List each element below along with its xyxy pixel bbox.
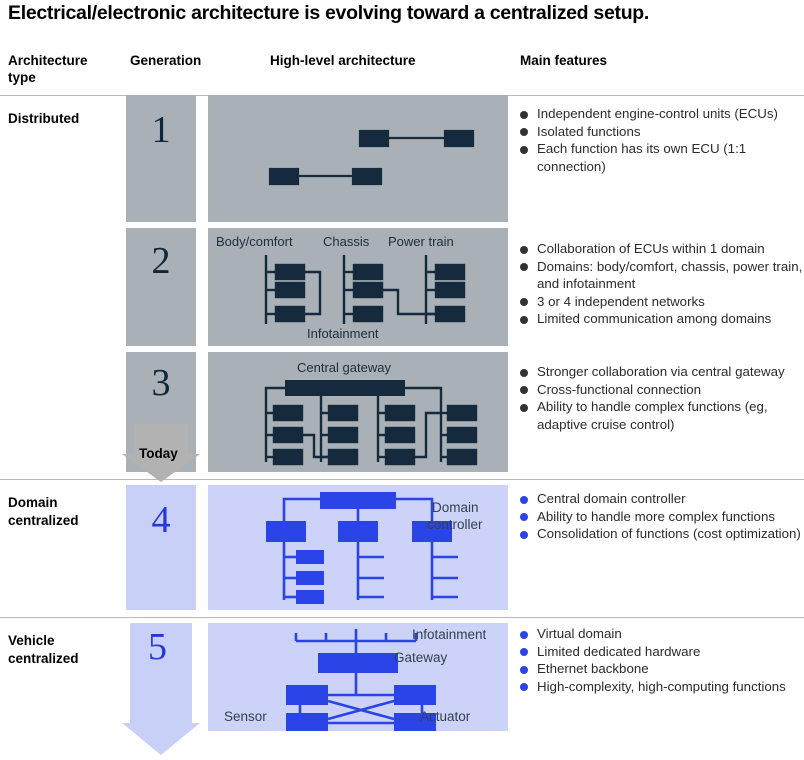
feature-item: Independent engine-control units (ECUs) — [520, 105, 804, 123]
feature-item: Consolidation of functions (cost optimiz… — [520, 525, 804, 543]
generation-number-2: 2 — [152, 242, 171, 280]
diagram-label-gateway: Gateway — [394, 650, 447, 665]
feature-item: Collaboration of ECUs within 1 domain — [520, 240, 804, 258]
features-list-gen-5: Virtual domain Limited dedicated hardwar… — [520, 625, 804, 695]
feature-item: Limited dedicated hardware — [520, 643, 804, 661]
diagram-label-actuator: Actuator — [420, 709, 470, 724]
architecture-diagram-gen-1 — [208, 95, 508, 222]
diagram-label-infotainment: Infotainment — [307, 326, 379, 341]
column-header-generation: Generation — [130, 52, 230, 69]
features-list-gen-4: Central domain controller Ability to han… — [520, 490, 804, 543]
diagram-svg-gen-1 — [208, 95, 508, 222]
diagram-label-sensor: Sensor — [224, 709, 267, 724]
row-type-label-domain-centralized: Domain centralized — [8, 494, 120, 529]
generation-cell-4: 4 — [126, 485, 196, 610]
generation-number-1: 1 — [152, 111, 171, 149]
page-title: Electrical/electronic architecture is ev… — [8, 2, 798, 25]
feature-item: Central domain controller — [520, 490, 804, 508]
feature-item: Virtual domain — [520, 625, 804, 643]
feature-item: Domains: body/comfort, chassis, power tr… — [520, 258, 804, 293]
diagram-label-domain: Domain — [432, 500, 479, 515]
row-type-label-distributed: Distributed — [8, 110, 120, 128]
generation-number-4: 4 — [152, 501, 171, 539]
generation-number-5: 5 — [148, 628, 167, 666]
divider-row5 — [0, 617, 804, 618]
diagram-label-power-train: Power train — [388, 234, 454, 249]
diagram-label-body-comfort: Body/comfort — [216, 234, 293, 249]
generation-cell-2: 2 — [126, 228, 196, 346]
generation-number-3: 3 — [152, 364, 171, 402]
today-arrow-label: Today — [139, 446, 178, 461]
features-list-gen-1: Independent engine-control units (ECUs) … — [520, 105, 804, 175]
column-header-high-level-architecture: High-level architecture — [270, 52, 510, 69]
feature-item: High-complexity, high-computing function… — [520, 678, 804, 696]
row-type-label-vehicle-centralized: Vehicle centralized — [8, 632, 120, 667]
feature-item: Ethernet backbone — [520, 660, 804, 678]
feature-item: Limited communication among domains — [520, 310, 804, 328]
feature-item: Ability to handle complex functions (eg,… — [520, 398, 804, 433]
diagram-label-infotainment: Infotainment — [412, 627, 486, 642]
features-list-gen-3: Stronger collaboration via central gatew… — [520, 363, 804, 433]
divider-row4 — [0, 479, 804, 480]
generation-cell-1: 1 — [126, 95, 196, 222]
diagram-label-chassis: Chassis — [323, 234, 369, 249]
feature-item: Cross-functional connection — [520, 381, 804, 399]
column-header-main-features: Main features — [520, 52, 790, 69]
feature-item: Ability to handle more complex functions — [520, 508, 804, 526]
features-list-gen-2: Collaboration of ECUs within 1 domain Do… — [520, 240, 804, 328]
diagram-label-central-gateway: Central gateway — [297, 360, 391, 375]
column-header-architecture-type: Architecture type — [8, 52, 118, 86]
feature-item: Each function has its own ECU (1:1 conne… — [520, 140, 804, 175]
diagram-label-controller: controller — [427, 517, 483, 532]
feature-item: 3 or 4 independent networks — [520, 293, 804, 311]
feature-item: Isolated functions — [520, 123, 804, 141]
feature-item: Stronger collaboration via central gatew… — [520, 363, 804, 381]
